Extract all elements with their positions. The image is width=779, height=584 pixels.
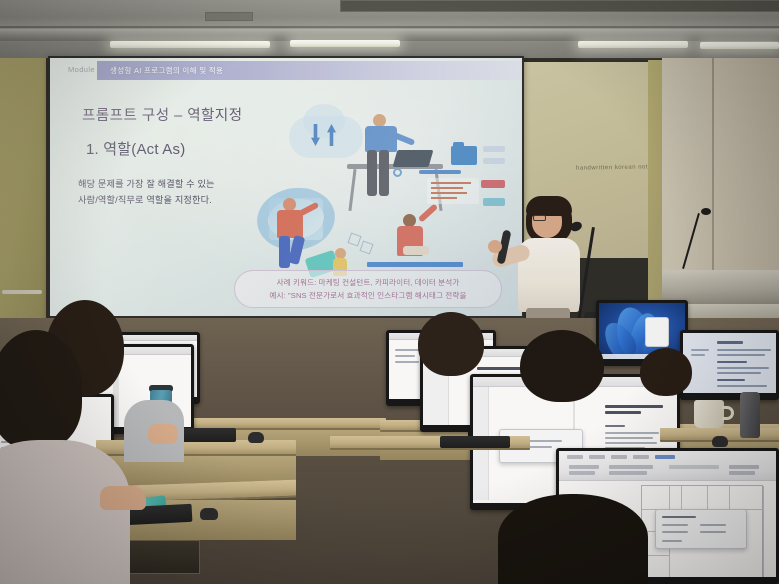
- flow-node-2: [483, 158, 505, 164]
- mouse-back[interactable]: [248, 432, 264, 443]
- illustration-desk-leg-a: [348, 169, 356, 211]
- cloud-icon: [289, 116, 363, 158]
- thermos-bottle: [740, 392, 760, 438]
- whiteboard-note: handwritten korean note: [576, 163, 652, 173]
- mouse[interactable]: [200, 508, 218, 520]
- illustration-card: [427, 178, 479, 204]
- slide-callout-box: 사례 키워드: 마케팅 컨설턴트, 카피라이터, 데이터 분석가 예시: "SN…: [234, 270, 502, 308]
- callout-line-example: 예시: "SNS 전문가로서 효과적인 인스타그램 해시태그 전략을: [269, 290, 466, 301]
- lectern: [662, 270, 779, 304]
- keyboard-mid[interactable]: [440, 436, 510, 448]
- ceiling-light-right-b: [700, 42, 779, 49]
- illustration-platform-bar: [367, 262, 463, 267]
- projected-slide: Module 생성형 AI 프로그램의 이해 및 적용 프롬프트 구성 – 역할…: [50, 58, 522, 316]
- desk-cable-panel: [120, 540, 200, 574]
- hex-decoration-a: [347, 232, 361, 246]
- presenter: [508, 196, 588, 336]
- spreadsheet-dialog[interactable]: [655, 509, 747, 549]
- person-leg-b: [379, 150, 389, 196]
- ceiling-light-mid: [290, 40, 400, 47]
- monitor-screen[interactable]: [683, 333, 776, 393]
- ceiling-light-left: [110, 41, 270, 48]
- student-hand: [100, 486, 146, 510]
- wall-panel-left: [0, 58, 52, 320]
- slide-header-text: 생성형 AI 프로그램의 이해 및 적용: [110, 65, 223, 76]
- ceiling-light-right-a: [578, 41, 688, 48]
- door-handle: [2, 290, 42, 294]
- flow-node-4: [483, 198, 505, 206]
- person-leg-a: [279, 236, 290, 268]
- office-ribbon[interactable]: [559, 451, 776, 481]
- microphone-head-icon: [701, 208, 711, 215]
- classroom-photo: handwritten korean note Module 생성형 AI 프로…: [0, 0, 779, 584]
- slide-header-band: 생성형 AI 프로그램의 이해 및 적용: [97, 61, 522, 80]
- ceiling-vent: [340, 0, 779, 12]
- monitor-right-document: [680, 330, 779, 400]
- person-leg-a: [367, 150, 377, 196]
- illustration-laptop: [393, 150, 434, 167]
- coffee-mug: [694, 400, 724, 428]
- presenter-hand: [488, 240, 502, 253]
- hex-decoration-b: [359, 240, 373, 254]
- slide-illustration: [255, 106, 505, 281]
- gear-icon: [393, 168, 402, 177]
- slide-module-label: Module: [68, 65, 95, 74]
- glasses-icon: [533, 215, 546, 221]
- person-arm: [418, 203, 438, 222]
- flow-connector: [419, 170, 461, 174]
- student-hand: [148, 424, 178, 444]
- person-leg: [403, 246, 429, 255]
- folder-icon: [451, 146, 477, 165]
- ceiling-diffuser: [205, 12, 253, 21]
- slide-subtitle: 1. 역할(Act As): [86, 138, 185, 159]
- callout-line-keywords: 사례 키워드: 마케팅 컨설턴트, 카피라이터, 데이터 분석가: [277, 277, 460, 288]
- presenter-bangs: [526, 196, 572, 216]
- flow-node-1: [483, 146, 505, 152]
- windows-dialog[interactable]: [645, 317, 669, 347]
- person-torso: [365, 126, 397, 152]
- student-shoulder: [0, 440, 130, 584]
- slide-title: 프롬프트 구성 – 역할지정: [82, 104, 243, 125]
- person-torso: [277, 210, 303, 238]
- mouse-right[interactable]: [712, 436, 728, 447]
- flow-node-3: [481, 180, 505, 188]
